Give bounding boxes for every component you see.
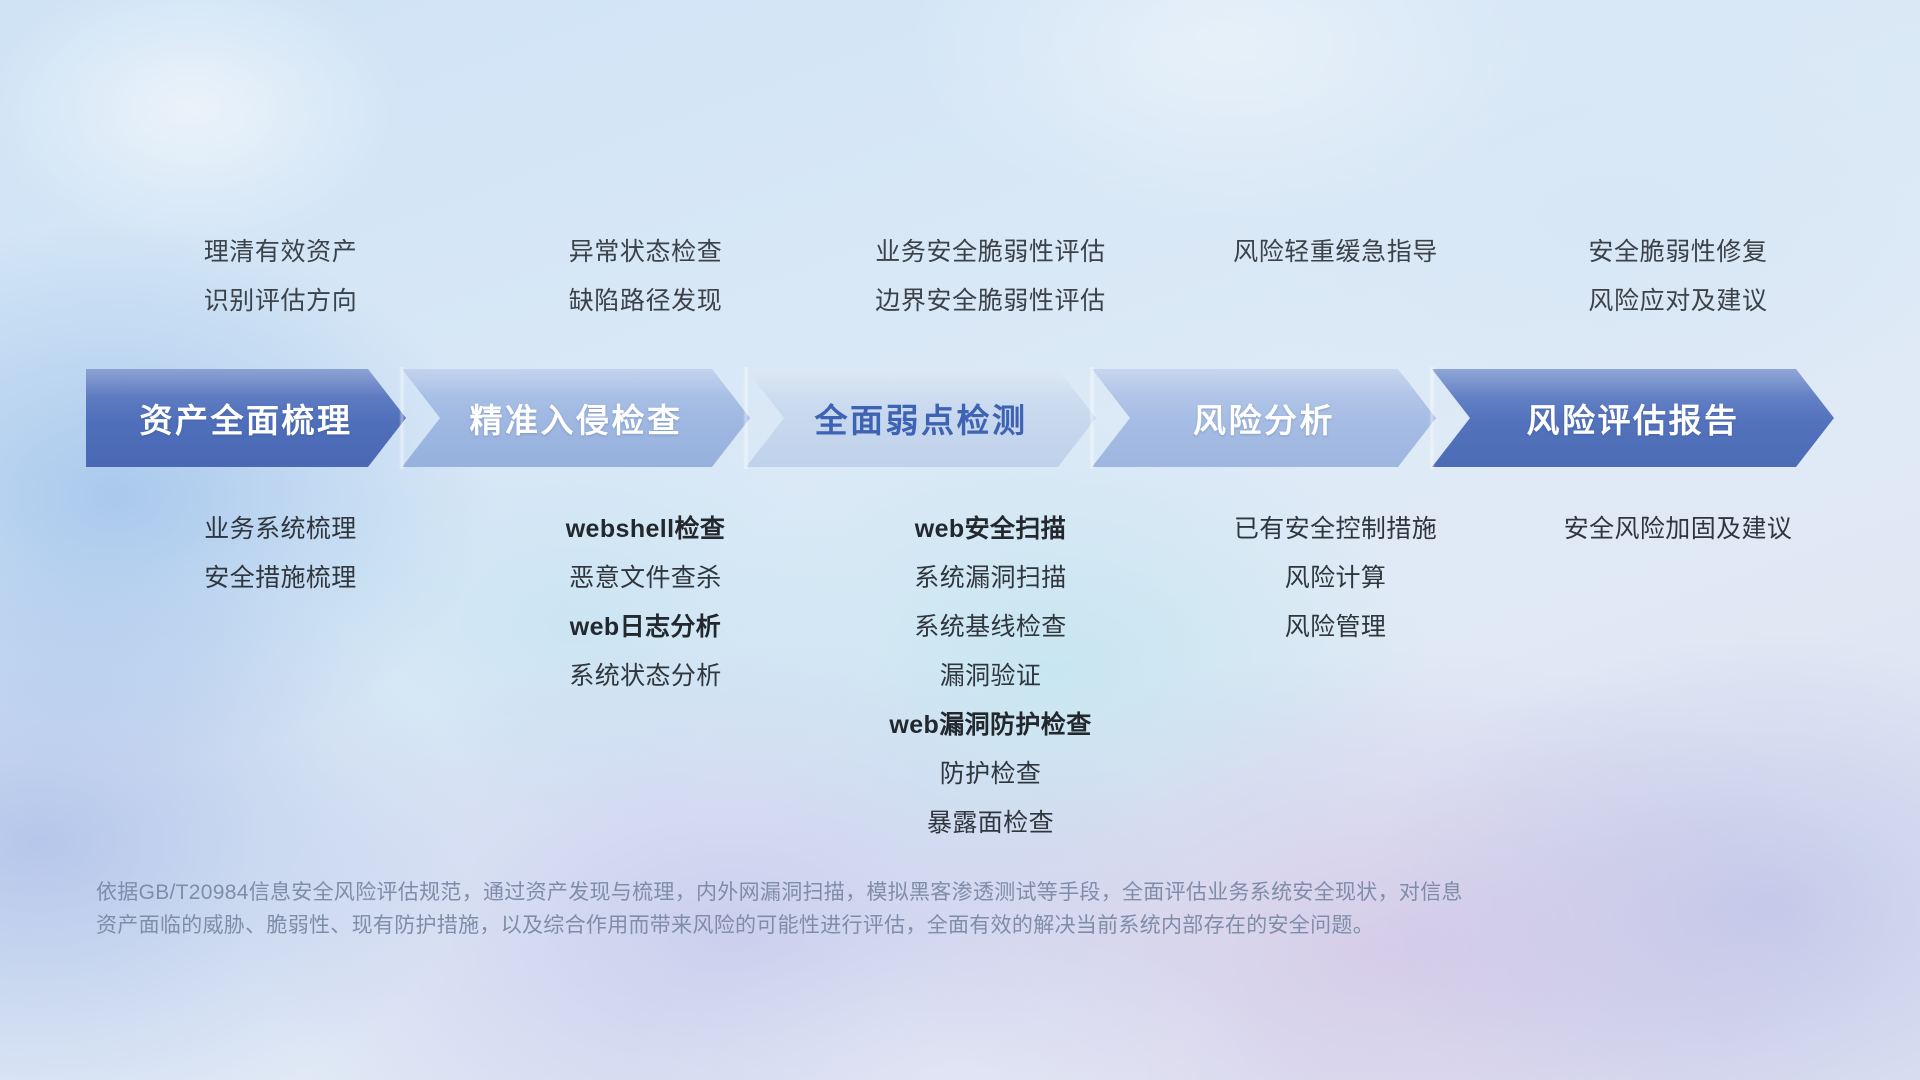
sub-line: web安全扫描 xyxy=(818,505,1163,554)
footer-line-2: 资产面临的威胁、脆弱性、现有防护措施，以及综合作用而带来风险的可能性进行评估，全… xyxy=(96,909,1656,942)
note-line: 边界安全脆弱性评估 xyxy=(818,277,1163,326)
stage-label: 资产全面梳理 xyxy=(140,394,353,442)
top-notes-risk-analysis: 风险轻重缓急指导 xyxy=(1163,228,1508,326)
note-line: 识别评估方向 xyxy=(88,277,473,326)
note-line: 理清有效资产 xyxy=(88,228,473,277)
sub-line: 系统基线检查 xyxy=(818,603,1163,652)
note-line: 风险轻重缓急指导 xyxy=(1163,228,1508,277)
bottom-notes-assessment-report: 安全风险加固及建议 xyxy=(1508,505,1848,848)
top-notes-asset-inventory: 理清有效资产 识别评估方向 xyxy=(88,228,473,326)
sub-line: web日志分析 xyxy=(473,603,818,652)
bottom-notes-row: 业务系统梳理 安全措施梳理 webshell检查 恶意文件查杀 web日志分析 … xyxy=(88,505,1848,848)
note-line: 异常状态检查 xyxy=(473,228,818,277)
stage-label: 全面弱点检测 xyxy=(815,394,1028,442)
sub-line: 安全措施梳理 xyxy=(88,554,473,603)
top-notes-intrusion-check: 异常状态检查 缺陷路径发现 xyxy=(473,228,818,326)
sub-line: webshell检查 xyxy=(473,505,818,554)
stage-arrow-assessment-report[interactable]: 风险评估报告 xyxy=(1432,369,1834,467)
stage-arrow-asset-inventory[interactable]: 资产全面梳理 xyxy=(86,369,406,467)
sub-line: web漏洞防护检查 xyxy=(818,701,1163,750)
note-line: 业务安全脆弱性评估 xyxy=(818,228,1163,277)
note-line: 安全脆弱性修复 xyxy=(1508,228,1848,277)
top-notes-assessment-report: 安全脆弱性修复 风险应对及建议 xyxy=(1508,228,1848,326)
sub-line: 系统漏洞扫描 xyxy=(818,554,1163,603)
sub-line: 恶意文件查杀 xyxy=(473,554,818,603)
top-notes-weakness-detection: 业务安全脆弱性评估 边界安全脆弱性评估 xyxy=(818,228,1163,326)
note-line: 缺陷路径发现 xyxy=(473,277,818,326)
sub-line: 暴露面检查 xyxy=(818,799,1163,848)
sub-line: 防护检查 xyxy=(818,750,1163,799)
bottom-notes-intrusion-check: webshell检查 恶意文件查杀 web日志分析 系统状态分析 xyxy=(473,505,818,848)
sub-line: 安全风险加固及建议 xyxy=(1508,505,1848,554)
top-notes-row: 理清有效资产 识别评估方向 异常状态检查 缺陷路径发现 业务安全脆弱性评估 边界… xyxy=(88,228,1848,326)
note-line: 风险应对及建议 xyxy=(1508,277,1848,326)
stage-label: 风险分析 xyxy=(1193,394,1335,442)
sub-line: 系统状态分析 xyxy=(473,652,818,701)
stage-label: 风险评估报告 xyxy=(1527,394,1740,442)
sub-line: 业务系统梳理 xyxy=(88,505,473,554)
bottom-notes-risk-analysis: 已有安全控制措施 风险计算 风险管理 xyxy=(1163,505,1508,848)
stage-arrow-risk-analysis[interactable]: 风险分析 xyxy=(1092,369,1436,467)
bottom-notes-asset-inventory: 业务系统梳理 安全措施梳理 xyxy=(88,505,473,848)
sub-line: 风险计算 xyxy=(1163,554,1508,603)
stage-label: 精准入侵检查 xyxy=(470,394,683,442)
diagram-canvas: 理清有效资产 识别评估方向 异常状态检查 缺陷路径发现 业务安全脆弱性评估 边界… xyxy=(0,0,1920,1080)
sub-line: 风险管理 xyxy=(1163,603,1508,652)
sub-line: 漏洞验证 xyxy=(818,652,1163,701)
footer-line-1: 依据GB/T20984信息安全风险评估规范，通过资产发现与梳理，内外网漏洞扫描，… xyxy=(96,876,1656,909)
sub-line: 已有安全控制措施 xyxy=(1163,505,1508,554)
stage-arrow-ribbon: 资产全面梳理 精准入侵检查 全面弱点检测 风险分析 风险评估报告 xyxy=(86,369,1834,467)
stage-arrow-intrusion-check[interactable]: 精准入侵检查 xyxy=(402,369,750,467)
stage-arrow-weakness-detection[interactable]: 全面弱点检测 xyxy=(746,369,1096,467)
bottom-notes-weakness-detection: web安全扫描 系统漏洞扫描 系统基线检查 漏洞验证 web漏洞防护检查 防护检… xyxy=(818,505,1163,848)
footer-description: 依据GB/T20984信息安全风险评估规范，通过资产发现与梳理，内外网漏洞扫描，… xyxy=(96,876,1656,942)
